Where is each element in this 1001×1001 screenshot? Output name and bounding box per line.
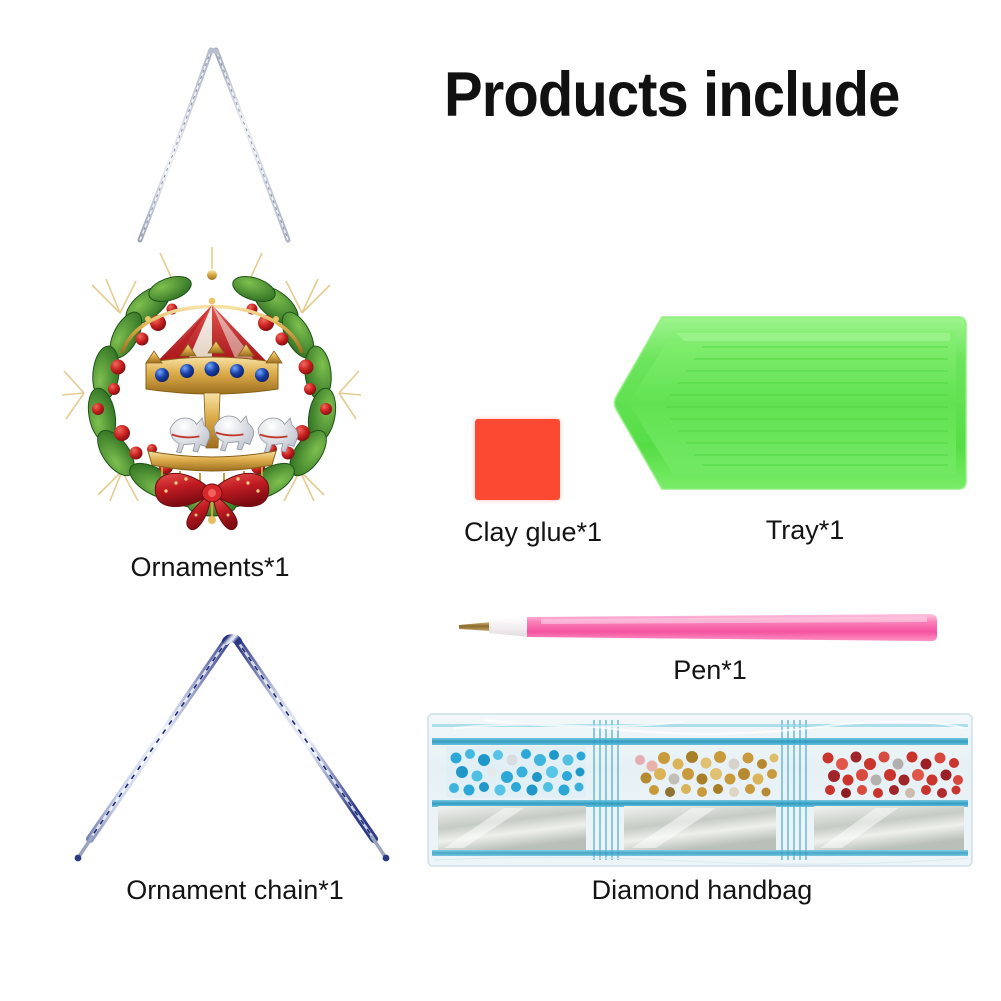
product-contents-image: Products include — [0, 0, 1001, 1001]
caption-ornaments: Ornaments*1 — [25, 552, 395, 583]
caption-diamond-handbag: Diamond handbag — [552, 875, 852, 906]
product-item-ornaments: Ornaments*1 — [30, 28, 390, 568]
metal-chain-icon — [70, 625, 400, 875]
page-title: Products include — [444, 62, 946, 128]
rhinestone-zip-bag-icon — [424, 710, 976, 870]
product-item-diamond-handbag: Diamond handbag — [424, 710, 976, 920]
diamond-pen-icon — [455, 600, 955, 660]
clay-glue-icon — [475, 419, 560, 500]
product-item-pen: Pen*1 — [455, 600, 975, 700]
product-item-ornament-chain: Ornament chain*1 — [70, 625, 400, 925]
caption-pen: Pen*1 — [610, 655, 810, 686]
caption-ornament-chain: Ornament chain*1 — [35, 875, 435, 906]
wreath-ornament-icon — [62, 243, 362, 533]
product-item-tray: Tray*1 — [610, 305, 990, 565]
ornament-hanging-chain-icon — [30, 28, 390, 268]
diamond-tray-icon — [610, 305, 980, 515]
caption-tray: Tray*1 — [720, 515, 890, 546]
product-item-clay-glue: Clay glue*1 — [452, 405, 612, 565]
